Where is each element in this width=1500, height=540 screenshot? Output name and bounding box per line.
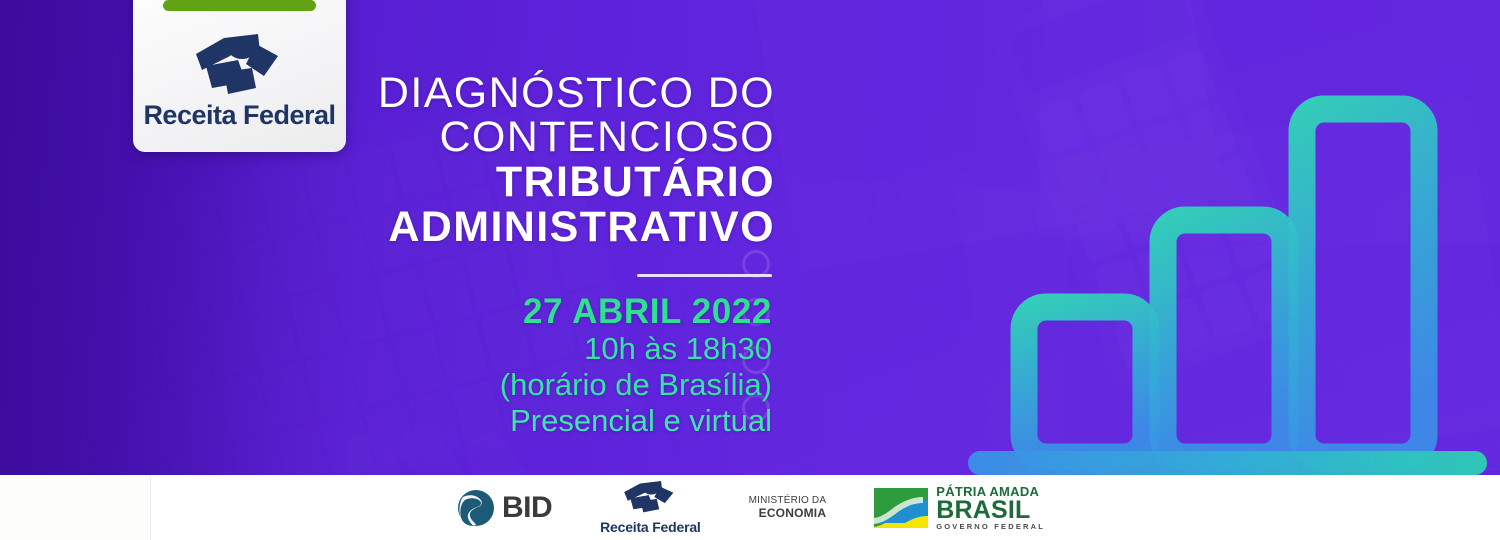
bid-globe-icon bbox=[455, 488, 497, 528]
receita-federal-emblem-icon bbox=[621, 481, 679, 513]
event-time: 10h às 18h30 bbox=[260, 331, 772, 367]
growth-bar-chart-graphic bbox=[955, 95, 1500, 475]
event-date: 27 ABRIL 2022 bbox=[260, 293, 772, 331]
logo-receita-federal: Receita Federal bbox=[600, 481, 701, 534]
bid-wordmark: BID bbox=[502, 493, 552, 523]
footer-logo-row: BID Receita bbox=[0, 475, 1500, 540]
footer-bar: BID Receita bbox=[0, 475, 1500, 540]
brasil-flag-mark-icon bbox=[874, 488, 928, 528]
brasil-line-3: GOVERNO FEDERAL bbox=[936, 523, 1045, 531]
event-timezone: (horário de Brasília) bbox=[260, 367, 772, 403]
brasil-line-2: BRASIL bbox=[936, 498, 1045, 523]
headline-line-4: ADMINISTRATIVO bbox=[200, 205, 775, 251]
headline-line-2: CONTENCIOSO bbox=[200, 116, 775, 160]
receita-federal-wordmark: Receita Federal bbox=[600, 520, 701, 534]
green-accent-bar bbox=[163, 0, 316, 11]
event-details-block: 27 ABRIL 2022 10h às 18h30 (horário de B… bbox=[260, 293, 772, 439]
bar-1 bbox=[1024, 307, 1146, 457]
headline-line-3: TRIBUTÁRIO bbox=[200, 160, 775, 206]
chart-baseline bbox=[968, 451, 1487, 475]
bar-2 bbox=[1163, 220, 1285, 457]
event-banner: Receita Federal DIAGNÓSTICO DO CONTENCIO… bbox=[0, 0, 1500, 540]
hero-region: Receita Federal DIAGNÓSTICO DO CONTENCIO… bbox=[0, 0, 1500, 475]
logo-ministerio-economia: MINISTÉRIO DA ECONOMIA bbox=[749, 495, 827, 521]
bar-chart-svg bbox=[955, 95, 1500, 475]
headline-block: DIAGNÓSTICO DO CONTENCIOSO TRIBUTÁRIO AD… bbox=[200, 72, 775, 251]
event-mode: Presencial e virtual bbox=[260, 403, 772, 439]
ministerio-line-1: MINISTÉRIO DA bbox=[749, 495, 827, 507]
logo-bid: BID bbox=[455, 488, 552, 528]
bar-3 bbox=[1302, 109, 1424, 457]
logo-patria-amada-brasil: PÁTRIA AMADA BRASIL GOVERNO FEDERAL bbox=[874, 485, 1045, 531]
ministerio-line-2: ECONOMIA bbox=[749, 506, 827, 520]
headline-line-1: DIAGNÓSTICO DO bbox=[200, 72, 775, 116]
headline-divider bbox=[637, 274, 772, 277]
